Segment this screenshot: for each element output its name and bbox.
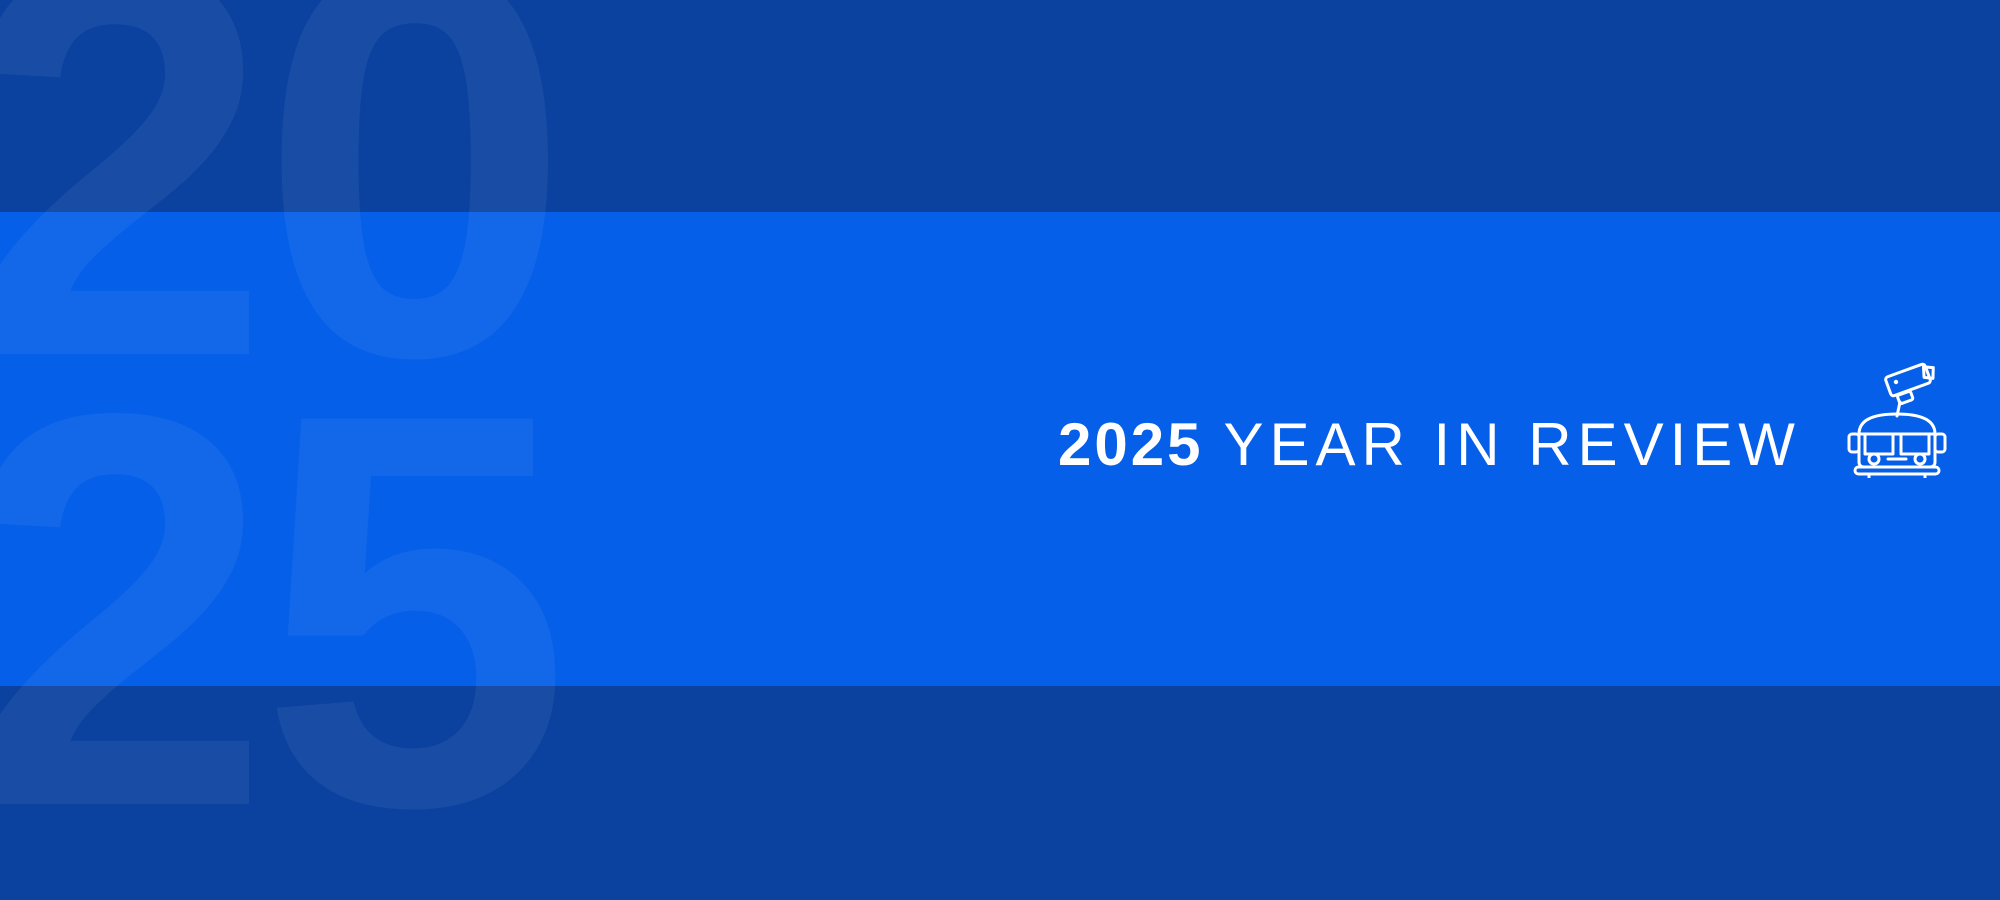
bus-front-icon (1849, 414, 1945, 478)
headline: 2025 YEAR IN REVIEW (1058, 415, 1801, 475)
windshield-left-pane (1865, 434, 1893, 454)
headlight-left (1869, 454, 1879, 464)
mirror-right (1935, 434, 1945, 452)
windshield-right-pane (1901, 434, 1929, 454)
mirror-left (1849, 434, 1859, 452)
headline-subtitle: YEAR IN REVIEW (1223, 415, 1800, 475)
headline-year: 2025 (1058, 415, 1203, 475)
bumper-bar (1855, 467, 1939, 474)
headlight-right (1915, 454, 1925, 464)
band-top (0, 0, 2000, 212)
year-in-review-banner: 20 25 2025 YEAR IN REVIEW (0, 0, 2000, 900)
bus-with-security-camera-icon (1843, 358, 1951, 478)
security-camera-icon (1885, 363, 1937, 416)
band-bottom (0, 686, 2000, 900)
camera-lens-dot (1894, 380, 1898, 384)
bus-with-security-camera-svg (1843, 358, 1951, 478)
